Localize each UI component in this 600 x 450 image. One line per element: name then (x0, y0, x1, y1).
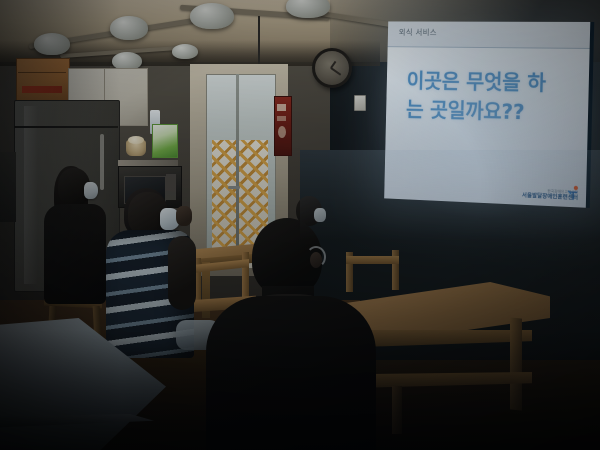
chair-behind-table-backrest (346, 256, 399, 264)
ceiling-spot-lamp (34, 33, 70, 55)
cardboard-box-seam (18, 72, 66, 73)
wall-clock (312, 48, 352, 88)
refrigerator-door-seam (14, 126, 118, 128)
slide-organization-logo: 한국장애인고용공단 서울발달장애인훈련센터 (522, 188, 578, 201)
wall-outlet (354, 95, 366, 111)
slide-question-text: 이곳은 무엇을 하 는 곳일까요?? (406, 67, 583, 129)
person-hand (176, 206, 192, 226)
photo-scene: 외식 서비스 이곳은 무엇을 하 는 곳일까요?? 한국장애인고용공단 서울발달… (0, 0, 600, 450)
clock-minute-hand (331, 67, 342, 75)
banner-marking (277, 116, 286, 121)
microwave-control-panel (166, 174, 176, 200)
green-product-box (152, 124, 178, 158)
door-handle[interactable] (228, 186, 240, 189)
slide-question-line-2: 는 곳일까요?? (406, 96, 583, 129)
banner-marking (278, 126, 286, 138)
logo-emblem-icon (566, 185, 579, 200)
face-mask (314, 208, 326, 222)
cardboard-box (16, 58, 70, 102)
person-arm (168, 236, 196, 310)
face-mask (84, 182, 98, 199)
slide-header-title: 외식 서비스 (399, 27, 437, 38)
person-torso (44, 204, 106, 304)
door-mullion (236, 74, 239, 266)
ceiling-spot-lamp (190, 3, 234, 29)
ceiling-spot-lamp (172, 44, 198, 59)
projection-screen: 외식 서비스 이곳은 무엇을 하 는 곳일까요?? 한국장애인고용공단 서울발달… (384, 21, 594, 207)
banner-marking (277, 104, 286, 111)
refrigerator-side-panel (0, 152, 16, 222)
refrigerator-handle (100, 134, 104, 190)
refrigerator-reflection (24, 106, 38, 284)
cardboard-box-label (22, 86, 62, 93)
basket-contents (128, 136, 144, 144)
bench-leg (392, 386, 402, 434)
projected-slide: 외식 서비스 이곳은 무엇을 하 는 곳일까요?? 한국장애인고용공단 서울발달… (384, 21, 594, 207)
person-torso (206, 296, 376, 450)
slide-question-line-1: 이곳은 무엇을 하 (406, 67, 583, 99)
ceiling-spot-lamp (110, 16, 148, 40)
main-table-leg (510, 317, 522, 410)
face-mask-ear-strap (306, 246, 326, 268)
